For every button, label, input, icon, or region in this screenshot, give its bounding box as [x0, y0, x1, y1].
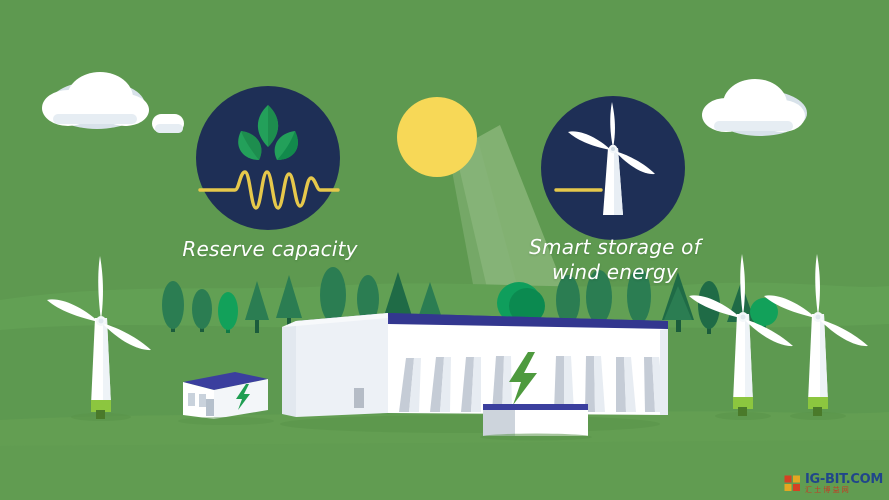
badge-label-reserve-capacity: Reserve capacity	[180, 237, 360, 262]
watermark-subtitle: 汇土博益网	[805, 487, 883, 494]
watermark: IG-BIT.COM 汇土博益网	[784, 473, 883, 494]
illustration-scene: Reserve capacity Smart storage of wind e…	[0, 0, 889, 500]
badge-reserve-capacity[interactable]	[196, 86, 340, 230]
badges-layer	[0, 0, 889, 500]
watermark-domain: IG-BIT.COM	[805, 473, 883, 486]
badge-label-smart-storage: Smart storage of wind energy	[525, 235, 705, 285]
ig-bit-logo-icon	[784, 475, 801, 492]
badge-smart-storage[interactable]	[541, 96, 685, 240]
